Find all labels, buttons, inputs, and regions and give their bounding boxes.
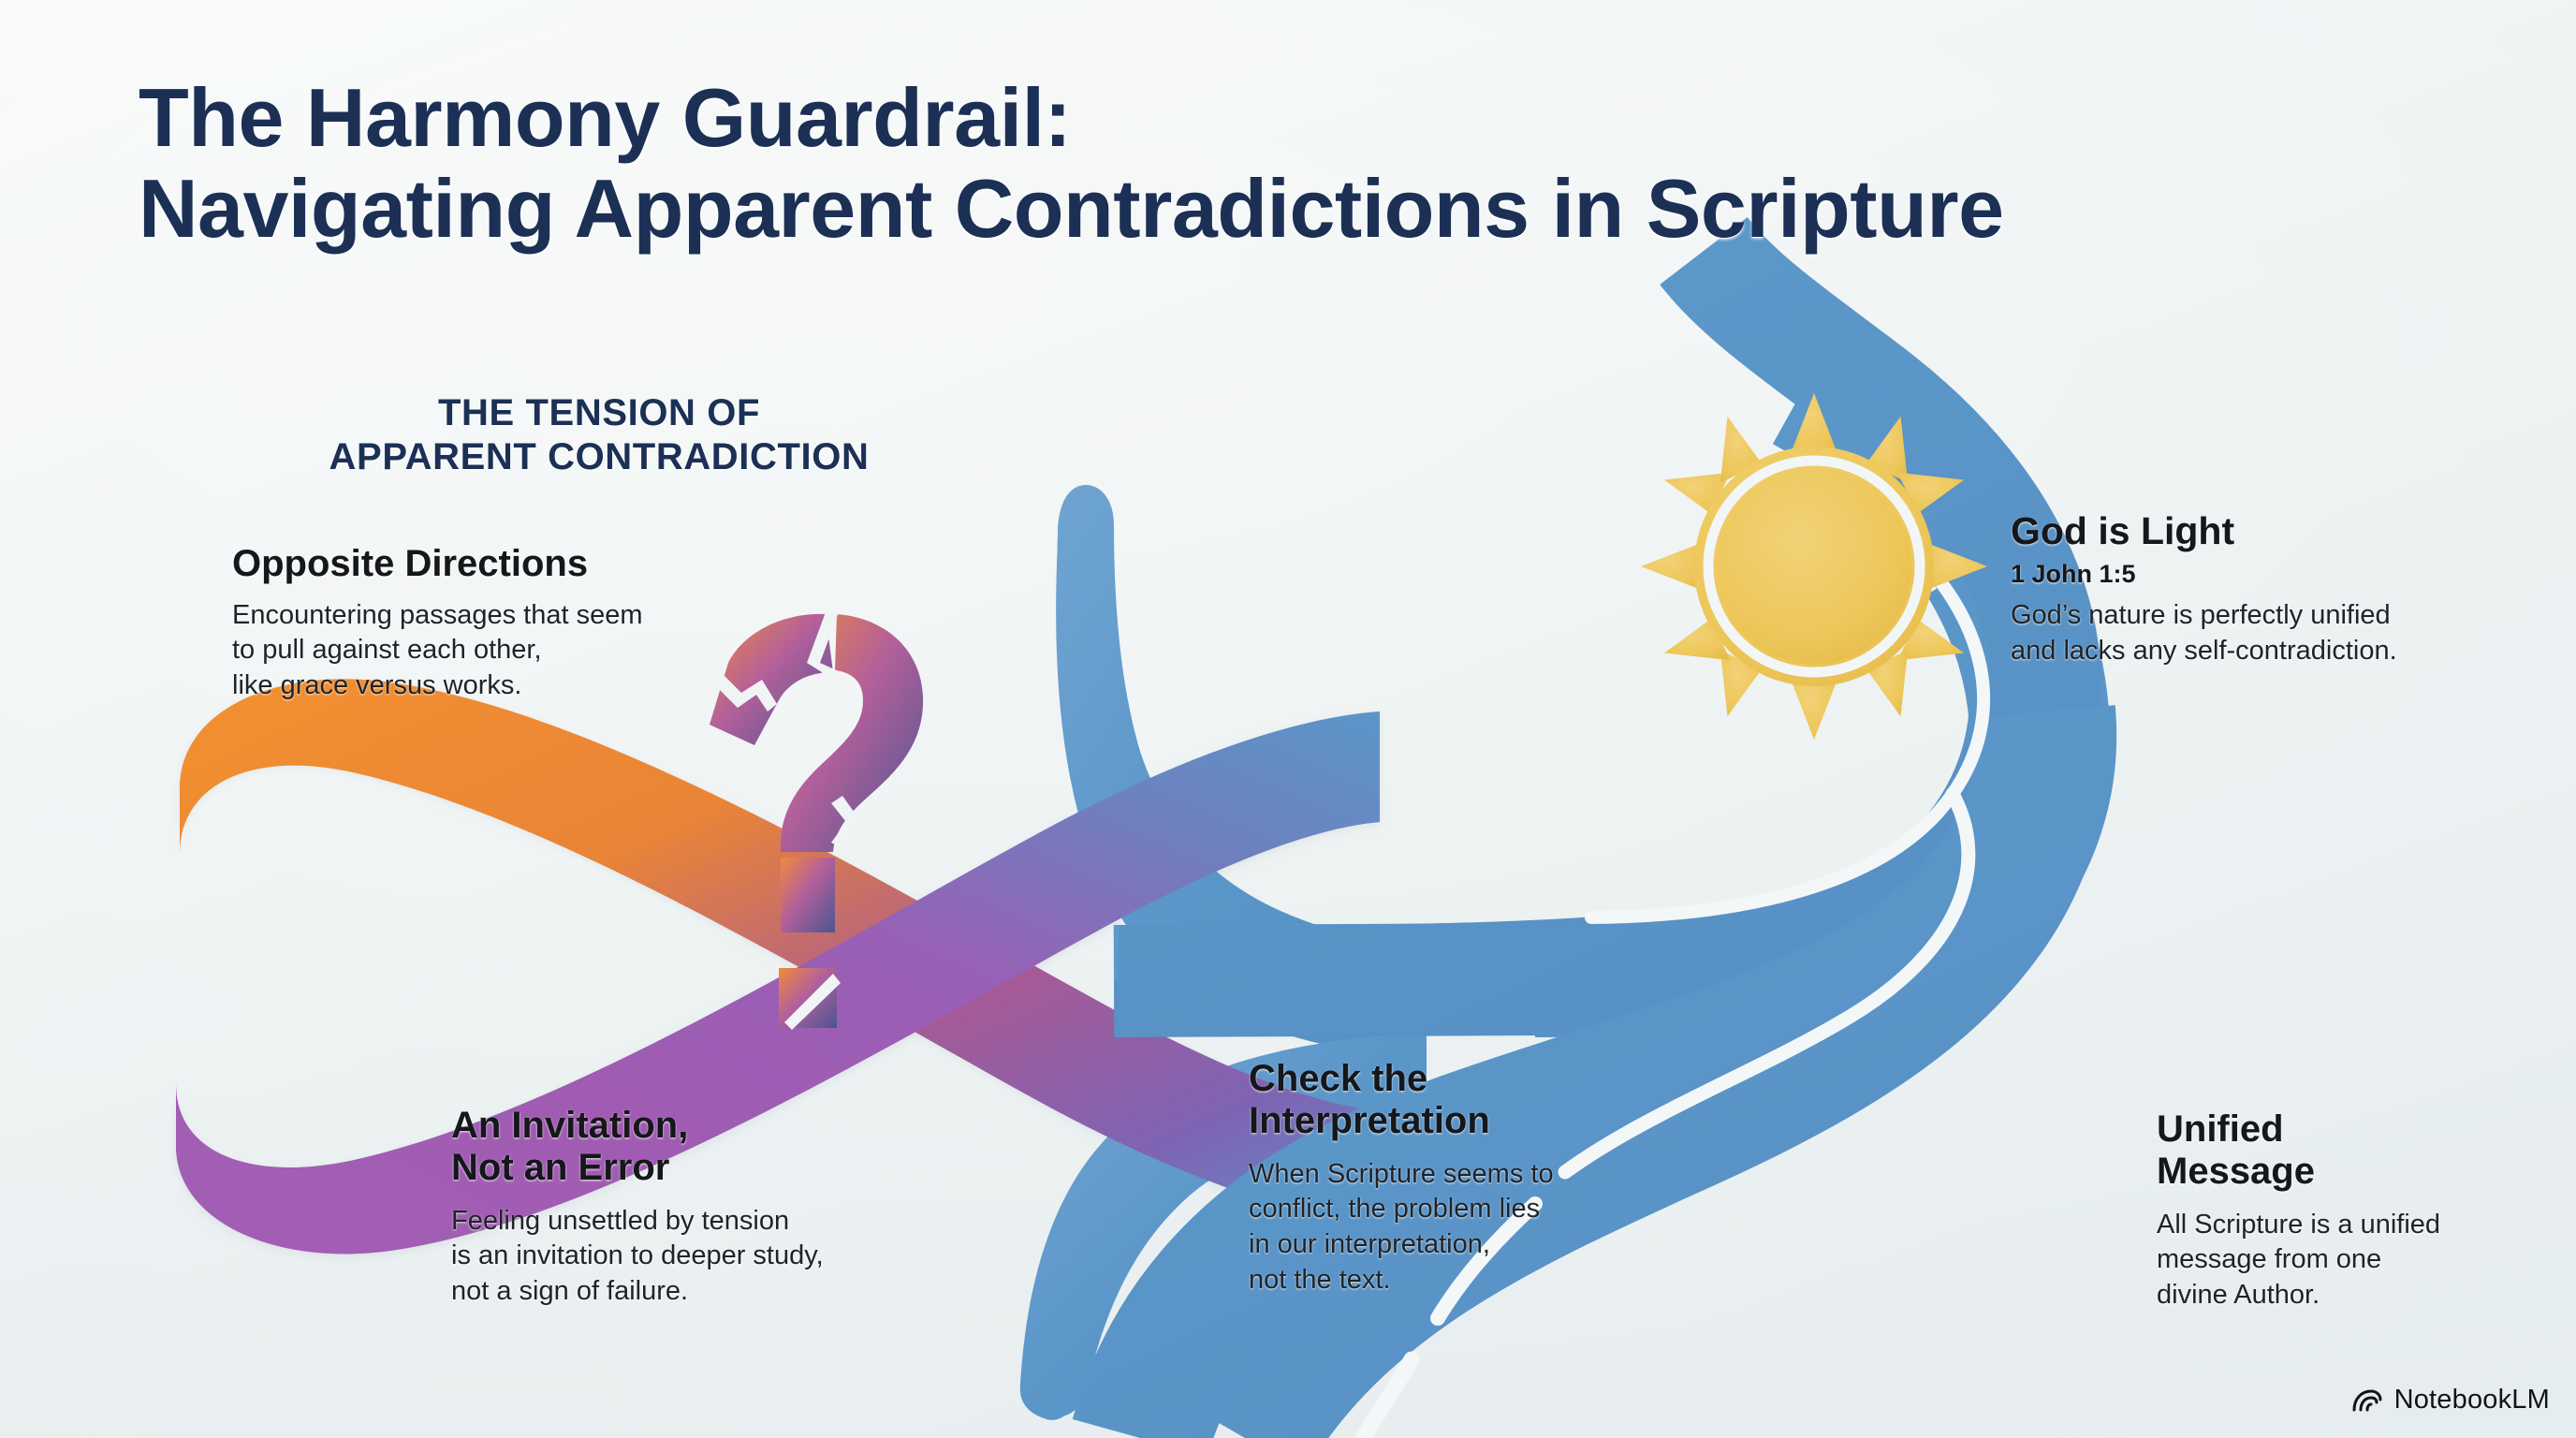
title-line: Interpretation (1249, 1100, 1661, 1142)
body-line: in our interpretation, (1249, 1227, 1661, 1263)
body-line: not a sign of failure. (451, 1274, 957, 1310)
body-line: message from one (2157, 1242, 2559, 1278)
card-opposite-directions-title: Opposite Directions (232, 543, 756, 585)
body-line: and lacks any self-contradiction. (2011, 634, 2497, 669)
card-god-is-light-body: God’s nature is perfectly unified and la… (2011, 598, 2497, 668)
body-line: Encountering passages that seem (232, 598, 756, 634)
card-opposite-directions-body: Encountering passages that seem to pull … (232, 598, 756, 704)
page-title: The Harmony Guardrail: Navigating Appare… (139, 73, 2535, 255)
body-line: Feeling unsettled by tension (451, 1204, 957, 1240)
body-line: to pull against each other, (232, 633, 756, 668)
body-line: conflict, the problem lies (1249, 1192, 1661, 1227)
card-god-is-light-title: God is Light (2011, 510, 2497, 553)
body-line: All Scripture is a unified (2157, 1208, 2559, 1243)
notebooklm-logo-icon (2351, 1387, 2383, 1414)
title-line: An Invitation, (451, 1105, 957, 1147)
card-check-interpretation: Check the Interpretation When Scripture … (1249, 1058, 1661, 1298)
section-header-line-1: THE TENSION OF (225, 391, 973, 435)
title-line: Not an Error (451, 1147, 957, 1189)
section-header: THE TENSION OF APPARENT CONTRADICTION (225, 391, 973, 479)
card-god-is-light-reference: 1 John 1:5 (2011, 559, 2497, 589)
body-line: is an invitation to deeper study, (451, 1239, 957, 1274)
card-invitation-not-error: An Invitation, Not an Error Feeling unse… (451, 1105, 957, 1310)
section-header-line-2: APPARENT CONTRADICTION (225, 435, 973, 479)
body-line: God’s nature is perfectly unified (2011, 598, 2497, 634)
card-check-interpretation-title: Check the Interpretation (1249, 1058, 1661, 1142)
card-unified-message-title: Unified Message (2157, 1108, 2559, 1193)
title-line: Message (2157, 1151, 2559, 1193)
card-unified-message-body: All Scripture is a unified message from … (2157, 1208, 2559, 1313)
card-god-is-light: God is Light 1 John 1:5 God’s nature is … (2011, 510, 2497, 669)
notebooklm-watermark: NotebookLM (2351, 1385, 2550, 1416)
body-line: like grace versus works. (232, 668, 756, 704)
body-line: not the text. (1249, 1263, 1661, 1299)
card-opposite-directions: Opposite Directions Encountering passage… (232, 543, 756, 704)
title-line: Unified (2157, 1108, 2559, 1151)
infographic-canvas: The Harmony Guardrail: Navigating Appare… (0, 0, 2576, 1438)
body-line: divine Author. (2157, 1278, 2559, 1313)
body-line: When Scripture seems to (1249, 1157, 1661, 1193)
page-title-line-1: The Harmony Guardrail: (139, 73, 2535, 164)
card-invitation-not-error-body: Feeling unsettled by tension is an invit… (451, 1204, 957, 1310)
notebooklm-watermark-label: NotebookLM (2394, 1385, 2550, 1416)
card-unified-message: Unified Message All Scripture is a unifi… (2157, 1108, 2559, 1313)
title-line: Check the (1249, 1058, 1661, 1100)
card-check-interpretation-body: When Scripture seems to conflict, the pr… (1249, 1157, 1661, 1299)
page-title-line-2: Navigating Apparent Contradictions in Sc… (139, 164, 2535, 255)
card-invitation-not-error-title: An Invitation, Not an Error (451, 1105, 957, 1189)
